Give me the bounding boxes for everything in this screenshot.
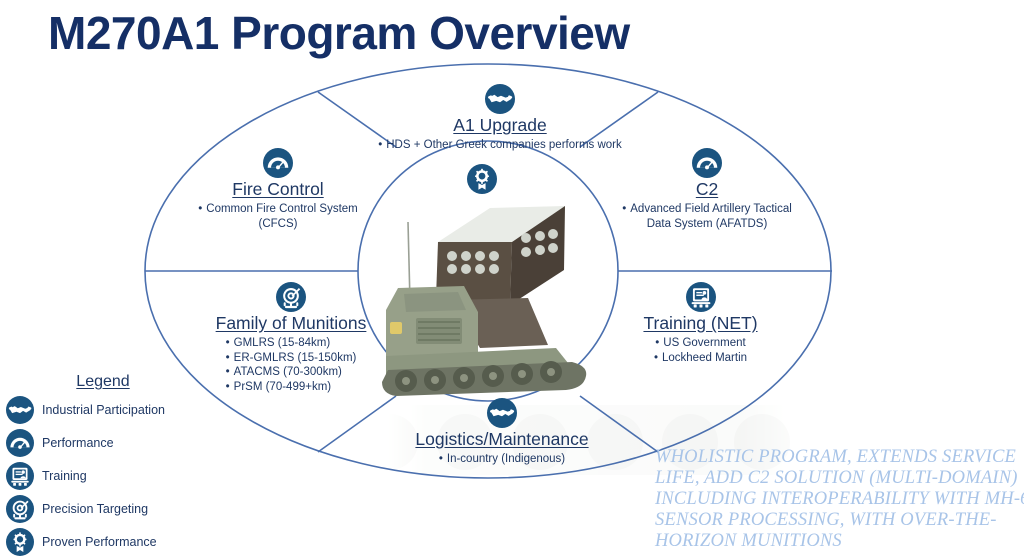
node-fire-control[interactable]: Fire Control Common Fire Control System … <box>178 148 378 231</box>
training-icon <box>6 462 34 490</box>
legend-item-precision-targeting: Precision Targeting <box>6 492 206 525</box>
bullet-item: GMLRS (15-84km) <box>226 336 357 351</box>
bullet-item: ATACMS (70-300km) <box>226 365 357 380</box>
node-title: Training (NET) <box>608 313 793 334</box>
gauge-icon <box>263 148 293 178</box>
page-title: M270A1 Program Overview <box>48 6 630 60</box>
legend-item-performance: Performance <box>6 426 206 459</box>
handshake-icon <box>485 84 515 114</box>
node-title: Family of Munitions <box>176 313 406 334</box>
training-icon <box>686 282 716 312</box>
node-title: Logistics/Maintenance <box>392 429 612 450</box>
bullet-item: Common Fire Control System (CFCS) <box>178 202 378 231</box>
handshake-icon <box>6 396 34 424</box>
legend-label: Performance <box>42 436 114 450</box>
handshake-icon <box>487 398 517 428</box>
bullet-item: US Government <box>608 336 793 351</box>
gear-badge-icon <box>6 528 34 556</box>
bullet-item: Advanced Field Artillery Tactical Data S… <box>612 202 802 231</box>
node-logistics-maintenance[interactable]: Logistics/Maintenance In-country (Indige… <box>392 398 612 467</box>
node-title: C2 <box>612 179 802 200</box>
node-family-of-munitions[interactable]: Family of Munitions GMLRS (15-84km) ER-G… <box>176 282 406 395</box>
node-title: A1 Upgrade <box>330 115 670 136</box>
bullet-item: PrSM (70-499+km) <box>226 380 357 395</box>
node-bullets: In-country (Indigenous) <box>392 452 612 467</box>
node-training-net[interactable]: Training (NET) US Government Lockheed Ma… <box>608 282 793 365</box>
gauge-icon <box>6 429 34 457</box>
node-bullets: Common Fire Control System (CFCS) <box>178 202 378 231</box>
node-title: Fire Control <box>178 179 378 200</box>
node-a1-upgrade[interactable]: A1 Upgrade HDS + Other Greek companies p… <box>330 84 670 153</box>
legend-item-industrial-participation: Industrial Participation <box>6 393 206 426</box>
node-c2[interactable]: C2 Advanced Field Artillery Tactical Dat… <box>612 148 802 231</box>
legend-title: Legend <box>48 373 158 391</box>
legend: Legend Industrial Participation Performa… <box>6 373 206 558</box>
legend-label: Training <box>42 469 87 483</box>
footer-note: WHOLISTIC PROGRAM, EXTENDS SERVICE LIFE,… <box>655 447 1024 552</box>
target-icon <box>276 282 306 312</box>
node-bullets: US Government Lockheed Martin <box>608 336 793 365</box>
gauge-icon <box>692 148 722 178</box>
target-icon <box>6 495 34 523</box>
node-bullets: Advanced Field Artillery Tactical Data S… <box>612 202 802 231</box>
legend-item-training: Training <box>6 459 206 492</box>
legend-label: Industrial Participation <box>42 403 165 417</box>
node-bullets: GMLRS (15-84km) ER-GMLRS (15-150km) ATAC… <box>226 336 357 395</box>
legend-label: Precision Targeting <box>42 502 148 516</box>
bullet-item: Lockheed Martin <box>608 351 793 366</box>
center-gear-badge-node <box>462 164 502 195</box>
bullet-item: ER-GMLRS (15-150km) <box>226 351 357 366</box>
gear-badge-icon <box>467 164 497 194</box>
legend-label: Proven Performance <box>42 535 157 549</box>
bullet-item: In-country (Indigenous) <box>392 452 612 467</box>
legend-item-proven-performance: Proven Performance <box>6 525 206 558</box>
